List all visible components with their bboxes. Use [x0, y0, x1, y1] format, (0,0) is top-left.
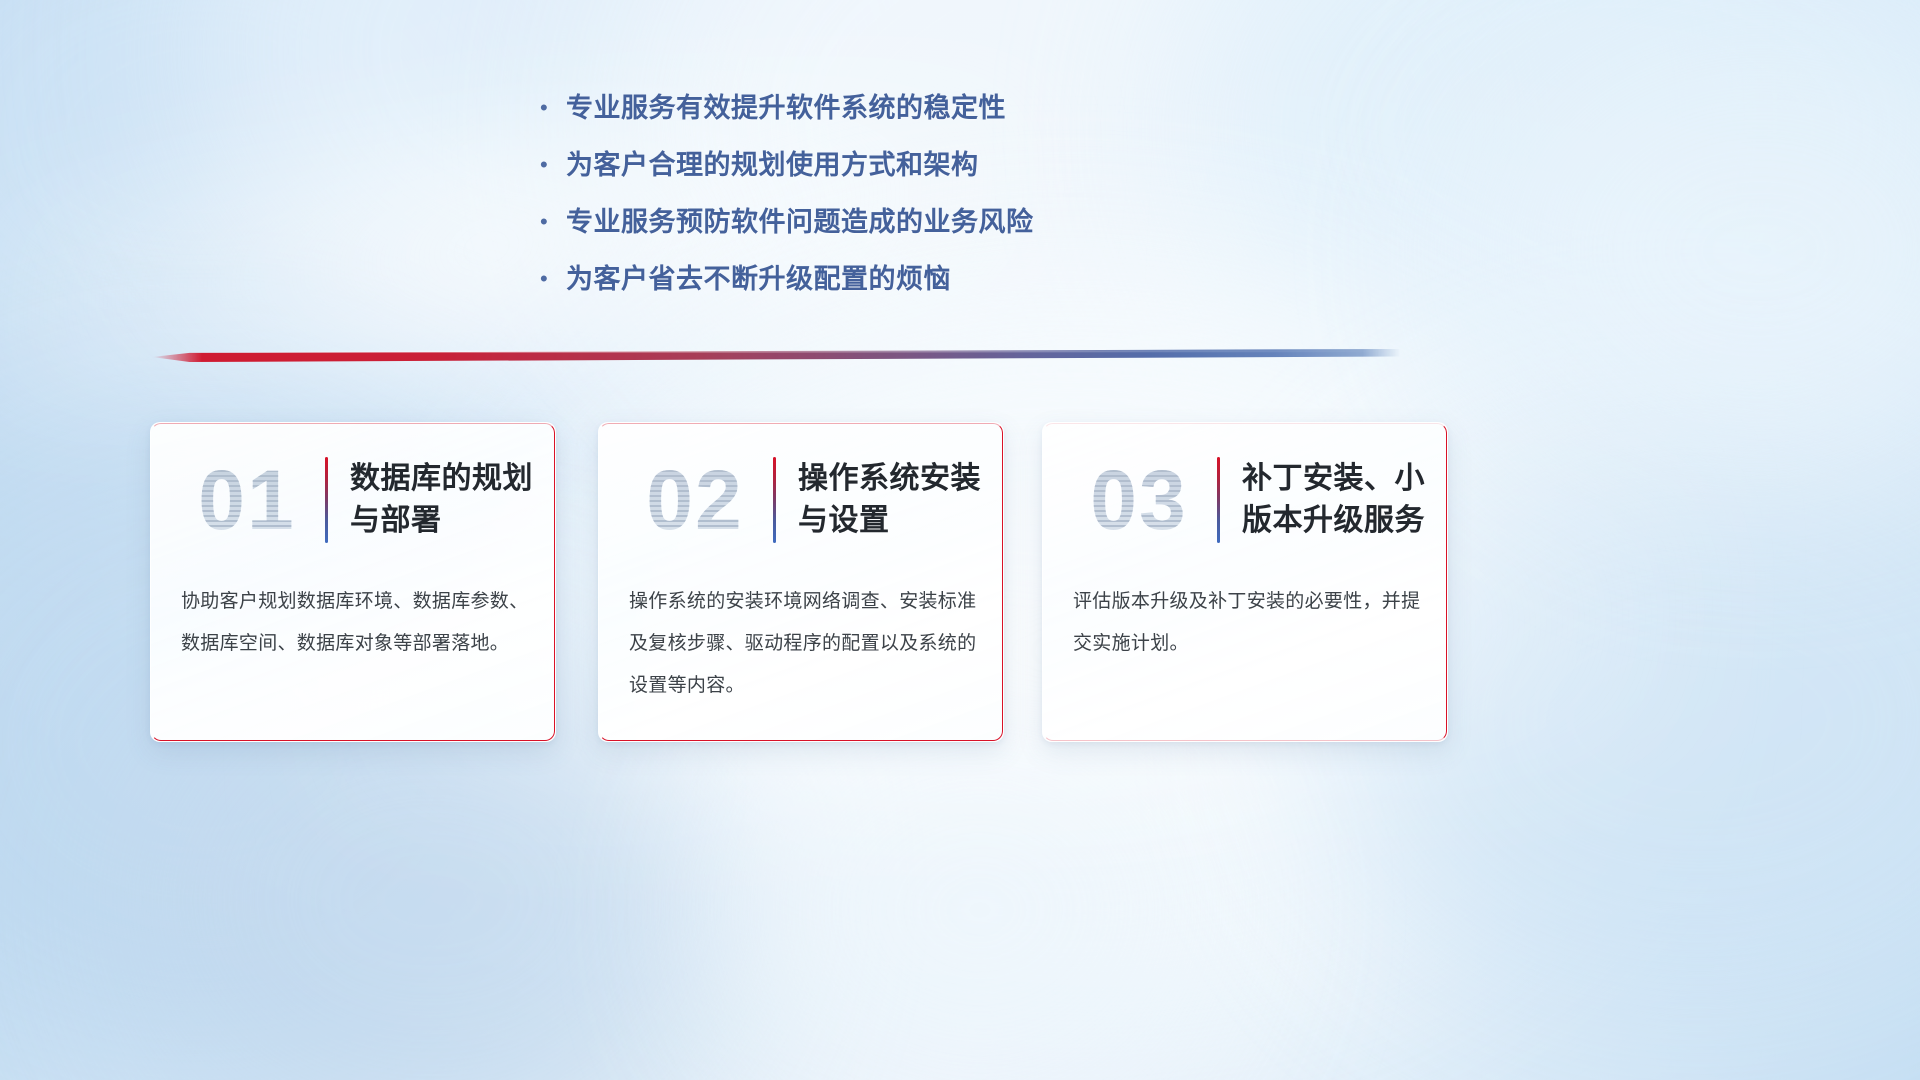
card-header: 01 数据库的规划与部署 [151, 441, 555, 559]
card-title: 数据库的规划与部署 [350, 458, 546, 542]
bullet-text: 为客户省去不断升级配置的烦恼 [566, 257, 951, 301]
card-number: 02 [621, 445, 769, 555]
service-card[interactable]: 02 操作系统安装与设置 操作系统的安装环境网络调查、安装标准及复核步骤、驱动程… [598, 422, 1004, 742]
section-divider [152, 349, 1400, 362]
card-accent-bar [1217, 457, 1220, 543]
service-card[interactable]: 01 数据库的规划与部署 协助客户规划数据库环境、数据库参数、数据库空间、数据库… [150, 422, 556, 742]
card-title: 补丁安装、小版本升级服务 [1242, 458, 1438, 542]
card-header: 03 补丁安装、小版本升级服务 [1043, 441, 1447, 559]
card-accent-bar [325, 457, 328, 543]
bullet-dot-icon: • [540, 143, 566, 187]
list-item: • 为客户省去不断升级配置的烦恼 [540, 257, 1240, 301]
service-card[interactable]: 03 补丁安装、小版本升级服务 评估版本升级及补丁安装的必要性，并提交实施计划。 [1042, 422, 1448, 742]
benefits-bullet-list: • 专业服务有效提升软件系统的稳定性 • 为客户合理的规划使用方式和架构 • 专… [540, 86, 1240, 314]
card-title: 操作系统安装与设置 [798, 458, 994, 542]
bullet-dot-icon: • [540, 257, 566, 301]
list-item: • 为客户合理的规划使用方式和架构 [540, 143, 1240, 187]
card-body-text: 操作系统的安装环境网络调查、安装标准及复核步骤、驱动程序的配置以及系统的设置等内… [629, 581, 977, 707]
bullet-text: 专业服务预防软件问题造成的业务风险 [566, 200, 1034, 244]
card-number: 01 [173, 445, 321, 555]
card-number: 03 [1065, 445, 1213, 555]
bullet-dot-icon: • [540, 86, 566, 130]
list-item: • 专业服务预防软件问题造成的业务风险 [540, 200, 1240, 244]
bullet-text: 专业服务有效提升软件系统的稳定性 [566, 86, 1006, 130]
card-header: 02 操作系统安装与设置 [599, 441, 1003, 559]
card-accent-bar [773, 457, 776, 543]
card-body-text: 协助客户规划数据库环境、数据库参数、数据库空间、数据库对象等部署落地。 [181, 581, 529, 665]
bullet-text: 为客户合理的规划使用方式和架构 [566, 143, 979, 187]
card-body-text: 评估版本升级及补丁安装的必要性，并提交实施计划。 [1073, 581, 1421, 665]
list-item: • 专业服务有效提升软件系统的稳定性 [540, 86, 1240, 130]
bullet-dot-icon: • [540, 200, 566, 244]
service-cards-row: 01 数据库的规划与部署 协助客户规划数据库环境、数据库参数、数据库空间、数据库… [150, 422, 1452, 742]
